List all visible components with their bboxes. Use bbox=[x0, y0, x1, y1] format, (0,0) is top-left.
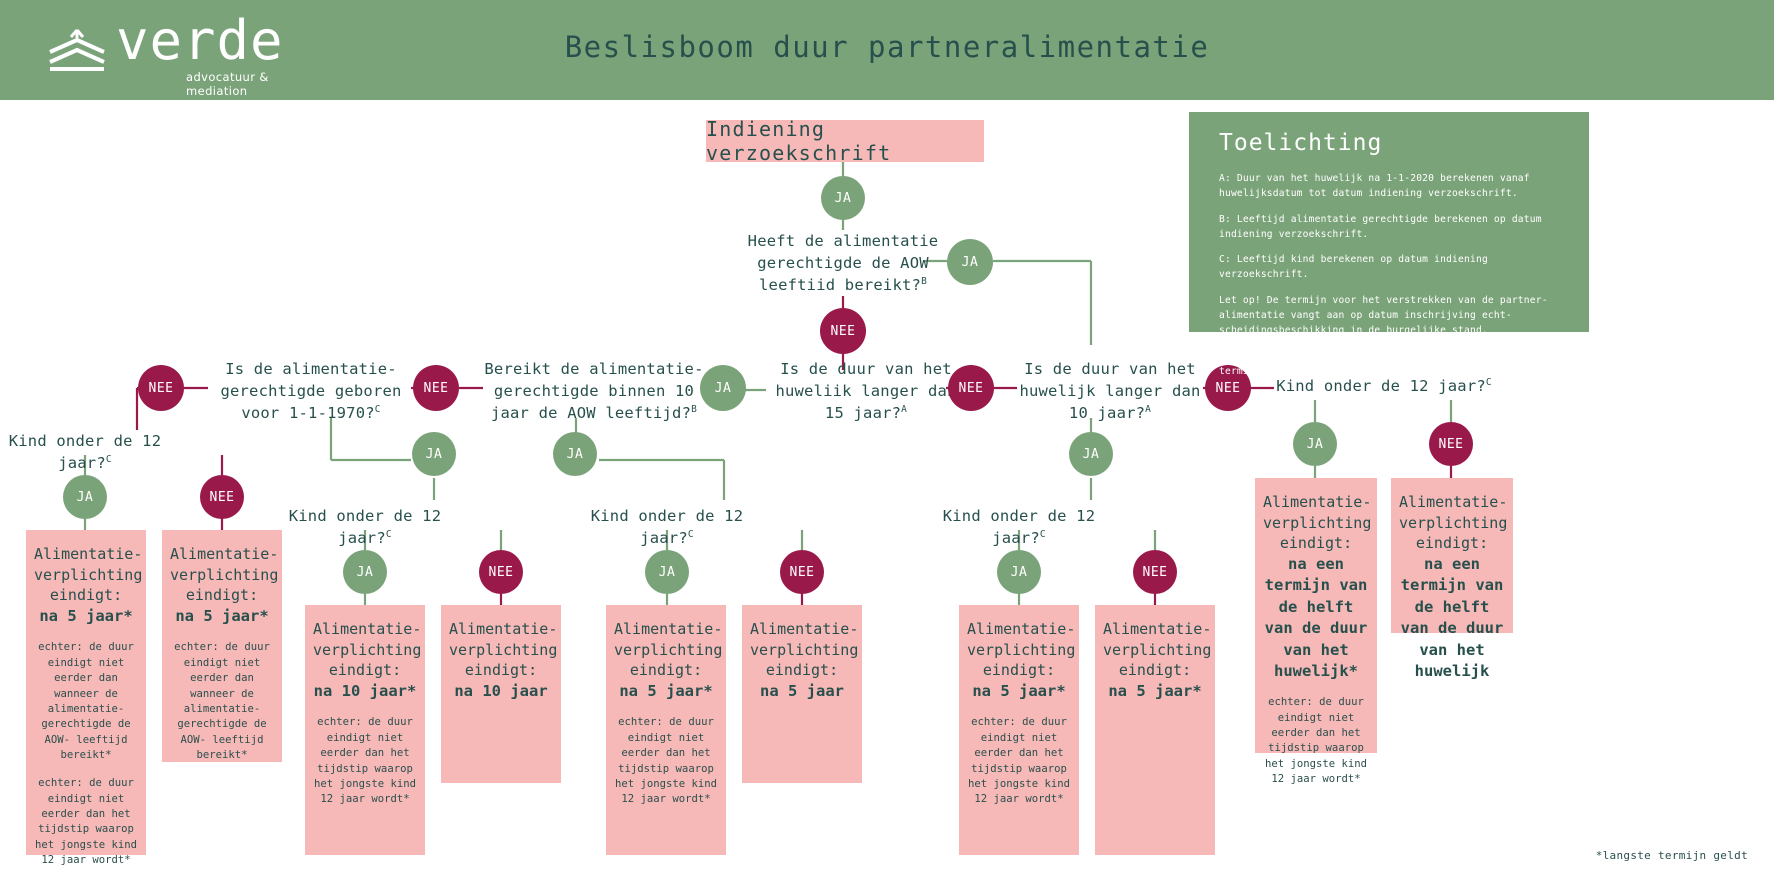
edge-node-ja-col-b: JA bbox=[412, 432, 456, 476]
result-note-kind: echter: de duur eindigt niet eerder dan … bbox=[614, 715, 718, 807]
result-value: na 5 jaar* bbox=[967, 681, 1071, 702]
question-binnen-10-jaar-aow: Bereikt de alimentatie- gerechtigde binn… bbox=[483, 358, 705, 424]
result-heading: Alimentatie- verplichting eindigt: bbox=[1399, 492, 1505, 554]
result-box-5: Alimentatie- verplichting eindigt: na 5 … bbox=[606, 605, 726, 855]
result-box-1: Alimentatie- verplichting eindigt: na 5 … bbox=[26, 530, 146, 855]
result-box-3: Alimentatie- verplichting eindigt: na 10… bbox=[305, 605, 425, 855]
edge-label: JA bbox=[715, 381, 732, 396]
edge-label: JA bbox=[1083, 447, 1100, 462]
footnote-ref: B bbox=[921, 276, 927, 287]
footnote-langste-termijn: *langste termijn geldt bbox=[1596, 849, 1748, 862]
result-box-9: Alimentatie- verplichting eindigt: na ee… bbox=[1255, 478, 1377, 753]
result-value: na 5 jaar* bbox=[614, 681, 718, 702]
edge-node-nee-aow: NEE bbox=[820, 308, 866, 354]
question-huwelijk-langer-10: Is de duur van het huwelijk langer dan 1… bbox=[1017, 358, 1203, 424]
question-kind-onder-12-col-a: Kind onder de 12 jaar?C bbox=[0, 430, 185, 474]
result-value: na 5 jaar* bbox=[1103, 681, 1207, 702]
footnote-ref: A bbox=[901, 404, 907, 415]
result-value: na 5 jaar* bbox=[170, 606, 274, 627]
edge-label: JA bbox=[1307, 437, 1324, 452]
result-note-aow: echter: de duur eindigt niet eerder dan … bbox=[170, 640, 274, 763]
result-value: na 5 jaar bbox=[750, 681, 854, 702]
result-value: na een termijn van de helft van de duur … bbox=[1399, 554, 1505, 682]
edge-node-ja-start: JA bbox=[821, 176, 865, 220]
result-note-kind: echter: de duur eindigt niet eerder dan … bbox=[967, 715, 1071, 807]
result-note-kind: echter: de duur eindigt niet eerder dan … bbox=[34, 776, 138, 868]
question-text: Is de duur van het huwelijk langer dan 1… bbox=[1019, 360, 1200, 422]
edge-node-nee-row-2: NEE bbox=[413, 365, 459, 411]
edge-label: NEE bbox=[489, 565, 514, 580]
edge-node-ja-col-c-kind: JA bbox=[645, 550, 689, 594]
edge-label: JA bbox=[962, 255, 979, 270]
result-note-kind: echter: de duur eindigt niet eerder dan … bbox=[313, 715, 417, 807]
page-header: verde advocatuur & mediation Beslisboom … bbox=[0, 0, 1774, 100]
edge-label: NEE bbox=[790, 565, 815, 580]
result-value: na 10 jaar bbox=[449, 681, 553, 702]
edge-node-nee-row-3: NEE bbox=[948, 365, 994, 411]
edge-label: JA bbox=[835, 191, 852, 206]
edge-label: NEE bbox=[831, 324, 856, 339]
result-box-6: Alimentatie- verplichting eindigt: na 5 … bbox=[742, 605, 862, 783]
question-text: Kind onder de 12 jaar? bbox=[289, 507, 442, 547]
edge-label: NEE bbox=[424, 381, 449, 396]
question-aow-leeftijd: Heeft de alimentatie gerechtigde de AOW … bbox=[723, 230, 963, 296]
result-heading: Alimentatie- verplichting eindigt: bbox=[313, 619, 417, 681]
question-geboren-voor-1970: Is de alimentatie- gerechtigde geboren v… bbox=[208, 358, 414, 424]
toelichting-paragraph-a: A: Duur van het huwelijk na 1-1-2020 ber… bbox=[1219, 172, 1565, 202]
result-note-kind: echter: de duur eindigt niet eerder dan … bbox=[1263, 695, 1369, 787]
footnote-ref: C bbox=[688, 529, 694, 540]
edge-node-ja-aow: JA bbox=[947, 239, 993, 285]
edge-node-ja-row-2: JA bbox=[700, 365, 746, 411]
toelichting-paragraph-c: C: Leeftijd kind berekenen op datum indi… bbox=[1219, 253, 1565, 283]
decision-tree-canvas: Indiening verzoekschrift JA Heeft de ali… bbox=[0, 100, 1774, 880]
question-kind-onder-12-col-b: Kind onder de 12 jaar?C bbox=[265, 505, 465, 549]
edge-label: JA bbox=[77, 490, 94, 505]
edge-label: JA bbox=[357, 565, 374, 580]
footnote-ref: C bbox=[375, 404, 381, 415]
question-text: Kind onder de 12 jaar? bbox=[9, 432, 162, 472]
result-heading: Alimentatie- verplichting eindigt: bbox=[750, 619, 854, 681]
footnote-ref: C bbox=[106, 454, 112, 465]
result-value: na 5 jaar* bbox=[34, 606, 138, 627]
result-box-7: Alimentatie- verplichting eindigt: na 5 … bbox=[959, 605, 1079, 855]
edge-node-ja-col-d-kind: JA bbox=[997, 550, 1041, 594]
edge-label: JA bbox=[659, 565, 676, 580]
edge-node-ja-col-e: JA bbox=[1293, 422, 1337, 466]
edge-label: NEE bbox=[959, 381, 984, 396]
result-heading: Alimentatie- verplichting eindigt: bbox=[34, 544, 138, 606]
question-text: Is de duur van het huweliik langer dan 1… bbox=[775, 360, 956, 422]
edge-label: NEE bbox=[149, 381, 174, 396]
result-box-10: Alimentatie- verplichting eindigt: na ee… bbox=[1391, 478, 1513, 633]
result-box-4: Alimentatie- verplichting eindigt: na 10… bbox=[441, 605, 561, 783]
result-heading: Alimentatie- verplichting eindigt: bbox=[1103, 619, 1207, 681]
toelichting-paragraph-letop: Let op! De termijn voor het verstrekken … bbox=[1219, 294, 1565, 339]
edge-node-nee-col-b-kind: NEE bbox=[479, 550, 523, 594]
result-heading: Alimentatie- verplichting eindigt: bbox=[1263, 492, 1369, 554]
toelichting-paragraph-samenloop: Bij samenloop van meerdere termijnen gel… bbox=[1219, 350, 1565, 380]
toelichting-paragraph-b: B: Leeftijd alimentatie gerechtigde bere… bbox=[1219, 213, 1565, 243]
result-heading: Alimentatie- verplichting eindigt: bbox=[449, 619, 553, 681]
question-kind-onder-12-col-d: Kind onder de 12 jaar?C bbox=[919, 505, 1119, 549]
question-text: Kind onder de 12 jaar? bbox=[943, 507, 1096, 547]
edge-node-ja-col-a: JA bbox=[63, 475, 107, 519]
footnote-ref: C bbox=[1040, 529, 1046, 540]
result-heading: Alimentatie- verplichting eindigt: bbox=[967, 619, 1071, 681]
result-heading: Alimentatie- verplichting eindigt: bbox=[614, 619, 718, 681]
start-node-label: Indiening verzoekschrift bbox=[706, 117, 984, 165]
edge-label: JA bbox=[1011, 565, 1028, 580]
question-text: Kind onder de 12 jaar? bbox=[591, 507, 744, 547]
result-value: na 10 jaar* bbox=[313, 681, 417, 702]
edge-node-ja-col-c: JA bbox=[553, 432, 597, 476]
edge-label: NEE bbox=[1439, 437, 1464, 452]
result-box-8: Alimentatie- verplichting eindigt: na 5 … bbox=[1095, 605, 1215, 855]
edge-node-nee-col-d-kind: NEE bbox=[1133, 550, 1177, 594]
question-huwelijk-langer-15: Is de duur van het huweliik langer dan 1… bbox=[766, 358, 966, 424]
logo-tagline: advocatuur & mediation bbox=[186, 70, 296, 98]
edge-label: NEE bbox=[1216, 381, 1241, 396]
question-text: Heeft de alimentatie gerechtigde de AOW … bbox=[748, 232, 939, 294]
question-text: Bereikt de alimentatie- gerechtigde binn… bbox=[484, 360, 703, 422]
question-text: Kind onder de 12 jaar? bbox=[1276, 377, 1486, 395]
toelichting-panel: Toelichting A: Duur van het huwelijk na … bbox=[1189, 112, 1589, 332]
edge-label: NEE bbox=[210, 490, 235, 505]
result-box-2: Alimentatie- verplichting eindigt: na 5 … bbox=[162, 530, 282, 762]
footnote-ref: A bbox=[1145, 404, 1151, 415]
edge-node-ja-col-b-kind: JA bbox=[343, 550, 387, 594]
question-kind-onder-12-col-c: Kind onder de 12 jaar?C bbox=[567, 505, 767, 549]
result-value: na een termijn van de helft van de duur … bbox=[1263, 554, 1369, 682]
footnote-ref: C bbox=[386, 529, 392, 540]
result-heading: Alimentatie- verplichting eindigt: bbox=[170, 544, 274, 606]
edge-node-nee-col-c-kind: NEE bbox=[780, 550, 824, 594]
edge-label: JA bbox=[426, 447, 443, 462]
edge-node-nee-row-1: NEE bbox=[138, 365, 184, 411]
result-note-aow: echter: de duur eindigt niet eerder dan … bbox=[34, 640, 138, 763]
footnote-ref: B bbox=[691, 404, 697, 415]
start-node-indiening-verzoekschrift: Indiening verzoekschrift bbox=[706, 120, 984, 162]
edge-node-nee-col-a: NEE bbox=[200, 475, 244, 519]
edge-node-nee-col-e: NEE bbox=[1429, 422, 1473, 466]
edge-label: JA bbox=[567, 447, 584, 462]
page-title: Beslisboom duur partneralimentatie bbox=[0, 30, 1774, 64]
edge-label: NEE bbox=[1143, 565, 1168, 580]
edge-node-ja-col-d: JA bbox=[1069, 432, 1113, 476]
toelichting-title: Toelichting bbox=[1219, 130, 1565, 156]
